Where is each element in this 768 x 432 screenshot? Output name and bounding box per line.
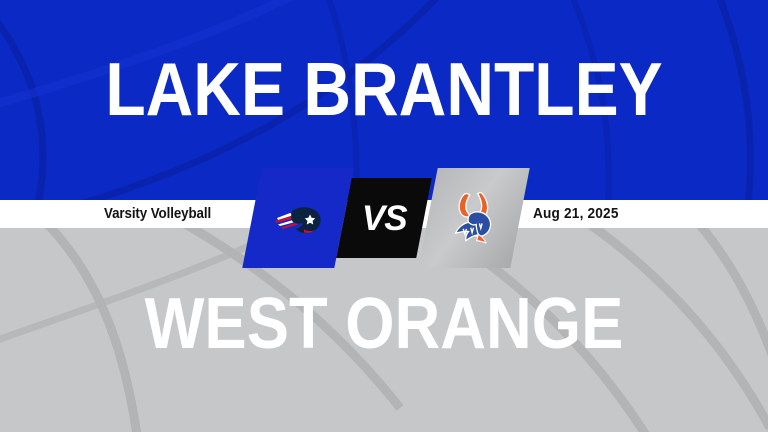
vs-badge: VS: [336, 178, 432, 258]
vs-label: VS: [362, 201, 407, 236]
matchup-graphic: Varsity Volleyball Aug 21, 2025 VS: [0, 0, 768, 432]
vikings-head-icon: [447, 192, 501, 244]
away-team-logo-panel: [418, 168, 529, 268]
game-date: Aug 21, 2025: [533, 203, 683, 225]
patriots-minuteman-icon: [268, 198, 328, 238]
sport-label: Varsity Volleyball: [104, 203, 242, 225]
away-team-name: WEST ORANGE: [46, 288, 722, 360]
home-team-name: LAKE BRANTLEY: [46, 52, 722, 127]
